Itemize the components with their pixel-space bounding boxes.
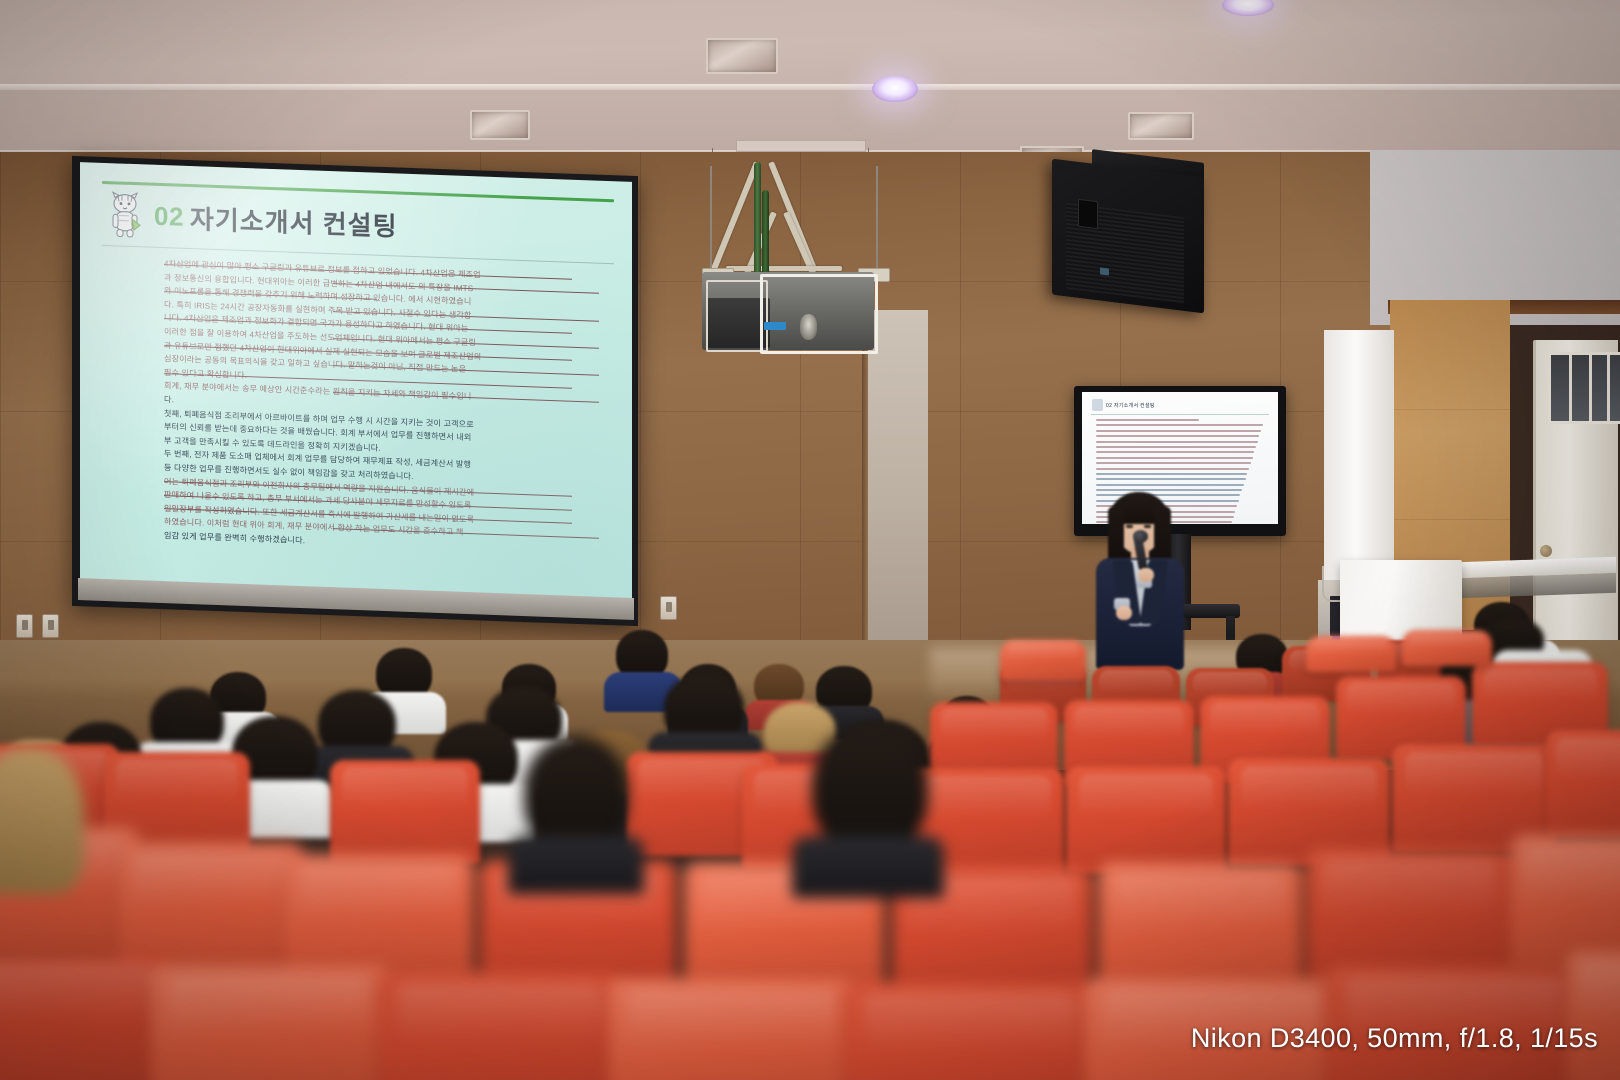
audience-torso [792, 836, 944, 898]
seat [1306, 636, 1396, 672]
tv-text-line [1096, 435, 1259, 437]
seat [1546, 730, 1620, 838]
seat [1402, 630, 1492, 666]
presenter-hand-left [1116, 606, 1132, 620]
tv-text-line [1096, 457, 1253, 459]
audience-head [812, 724, 928, 852]
seat [1066, 766, 1226, 874]
ceiling-vent [470, 110, 530, 140]
seat [330, 760, 480, 864]
ceiling-trim-rail [0, 84, 1620, 90]
presenter-eye-right [1144, 525, 1151, 528]
right-wall-plaster [1370, 150, 1620, 325]
wall-outlet [660, 596, 677, 620]
tv-text-line [1096, 441, 1258, 443]
wall-outlet [42, 614, 59, 638]
camera-metadata-overlay: Nikon D3400, 50mm, f/1.8, 1/15s [1191, 1023, 1598, 1054]
tv-slide-title: 02 자기소개서 컨설팅 [1106, 402, 1155, 409]
projector-label [764, 322, 786, 330]
audience-torso [508, 836, 644, 894]
presenter-eye-left [1126, 525, 1133, 528]
projector-cage-left [706, 280, 768, 352]
wall-alcove [866, 310, 928, 660]
ceiling-vent [1128, 112, 1194, 140]
lecture-hall-photo: 02 자기소개서 컨설팅 4차산업에 관심이 많아 평소 구글링과 유튜브로 정… [0, 0, 1620, 1080]
seat [378, 972, 622, 1080]
tv-text-line [1096, 419, 1199, 421]
projector-cage-right [760, 274, 878, 354]
tv-text-line [1096, 468, 1249, 470]
slide-number: 02 [154, 200, 184, 232]
tv-text-line [1096, 489, 1242, 491]
tv-text-line [1096, 484, 1244, 486]
projector-lens [800, 314, 817, 340]
presenter [1086, 492, 1192, 682]
pa-speaker-port [1078, 199, 1098, 229]
tv-text-line [1096, 478, 1246, 480]
ceiling-vent [706, 38, 778, 74]
seat [1566, 950, 1620, 1080]
seat [844, 982, 1096, 1080]
wall-outlet [16, 614, 33, 638]
tv-text-line [1096, 451, 1254, 453]
presenter-hand-right [1138, 568, 1154, 582]
tv-text-line [1096, 473, 1247, 475]
slide-title: 자기소개서 컨설팅 [190, 199, 398, 243]
tv-text-line [1096, 462, 1251, 464]
audience-head [524, 736, 628, 852]
seat [1000, 640, 1086, 680]
seat [150, 964, 390, 1080]
microphone-head [1133, 530, 1148, 543]
audience-head [0, 748, 84, 894]
lectern-cable [1322, 566, 1342, 602]
tv-text-line [1096, 430, 1261, 432]
tiger-mascot-icon [102, 190, 148, 240]
seat [608, 978, 856, 1080]
tv-text-line [1096, 446, 1256, 448]
ceiling-downlight [872, 76, 918, 102]
projection-screen: 02 자기소개서 컨설팅 4차산업에 관심이 많아 평소 구글링과 유튜브로 정… [80, 162, 632, 600]
door-window-panel [1548, 352, 1620, 424]
seat [0, 952, 170, 1080]
pa-speaker-indicator [1100, 267, 1109, 275]
wall-alcove-edge [862, 310, 868, 660]
door-knob[interactable] [1540, 545, 1552, 557]
tv-text-line [1096, 424, 1263, 426]
slide-document-body: 4차산업에 관심이 많아 평소 구글링과 유튜브로 정보를 접하고 있었습니다.… [102, 255, 614, 559]
tv-tiger-mascot-icon [1092, 399, 1103, 411]
